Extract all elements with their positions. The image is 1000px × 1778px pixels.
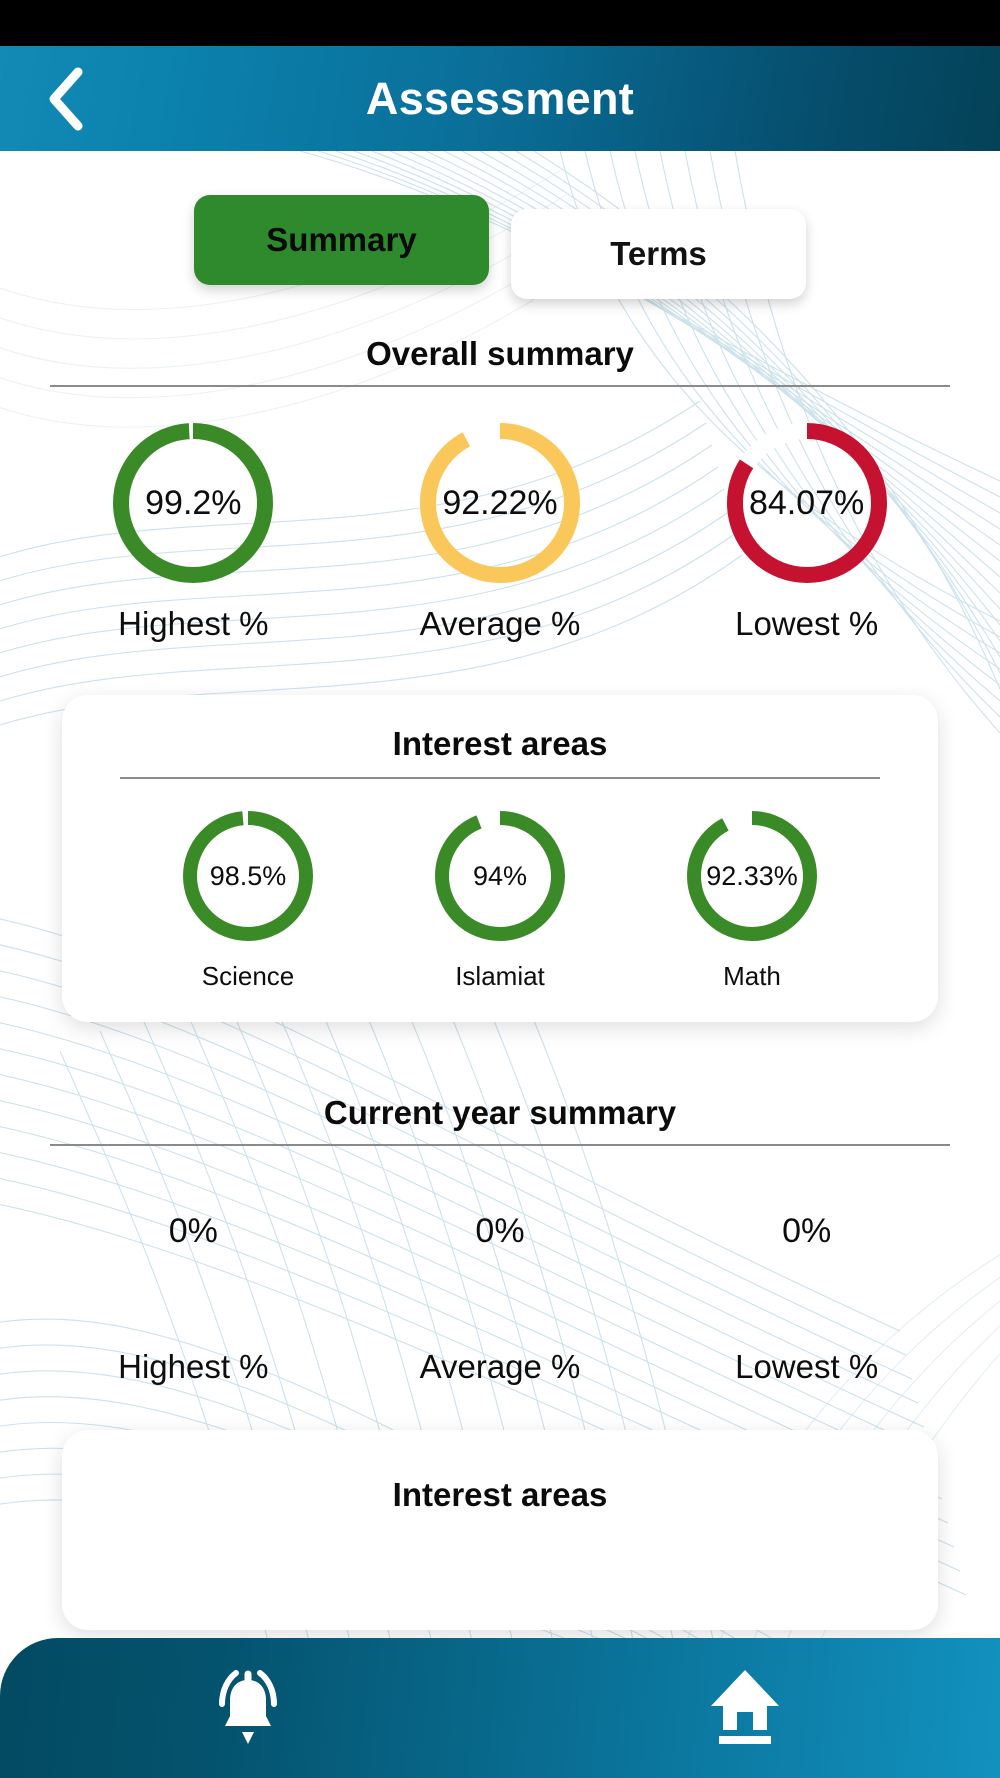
metric-label-lowest: Lowest % xyxy=(735,605,878,643)
interest-areas-card: Interest areas 98.5% Science xyxy=(62,695,938,1022)
interest-area-label-math: Math xyxy=(723,961,781,992)
bottom-navigation-bar xyxy=(0,1638,1000,1778)
current-year-summary-title: Current year summary xyxy=(0,1094,1000,1132)
current-year-value-highest: 0% xyxy=(169,1156,218,1306)
interest-area-label-islamiat: Islamiat xyxy=(455,961,545,992)
interest-area-label-science: Science xyxy=(202,961,295,992)
donut-value-islamiat: 94% xyxy=(431,807,569,945)
tab-bar: Summary Terms xyxy=(0,151,1000,299)
home-icon xyxy=(707,1666,783,1750)
donut-value-math: 92.33% xyxy=(683,807,821,945)
status-bar xyxy=(0,0,1000,46)
overall-summary-divider xyxy=(50,385,950,387)
interest-areas-donuts: 98.5% Science 94% Islamiat xyxy=(92,807,908,992)
scroll-content: Summary Terms Overall summary xyxy=(0,151,1000,1778)
current-year-value-average: 0% xyxy=(475,1156,524,1306)
donut-chart-math: 92.33% xyxy=(683,807,821,945)
nav-item-home[interactable] xyxy=(685,1653,805,1763)
donut-chart-highest: 99.2% xyxy=(107,417,279,589)
donut-value-average: 92.22% xyxy=(414,417,586,589)
current-year-interest-areas-title: Interest areas xyxy=(92,1476,908,1514)
back-button[interactable] xyxy=(36,66,98,132)
tab-summary-label: Summary xyxy=(266,221,416,259)
bell-icon xyxy=(209,1666,287,1750)
app-bar: Assessment xyxy=(0,46,1000,151)
chevron-left-icon xyxy=(44,66,90,132)
donut-value-highest: 99.2% xyxy=(107,417,279,589)
current-year-metric-lowest[interactable]: 0% Lowest % xyxy=(687,1156,927,1386)
metric-average[interactable]: 92.22% Average % xyxy=(414,417,586,643)
donut-chart-islamiat: 94% xyxy=(431,807,569,945)
donut-chart-average: 92.22% xyxy=(414,417,586,589)
overall-summary-section: Overall summary 99.2% Highest % xyxy=(0,335,1000,643)
interest-areas-title: Interest areas xyxy=(92,725,908,763)
tab-terms[interactable]: Terms xyxy=(511,209,806,299)
current-year-summary-section: Current year summary 0% Highest % 0% Ave… xyxy=(0,1094,1000,1386)
donut-value-lowest: 84.07% xyxy=(721,417,893,589)
metric-highest[interactable]: 99.2% Highest % xyxy=(107,417,279,643)
current-year-metric-average[interactable]: 0% Average % xyxy=(380,1156,620,1386)
metric-label-average: Average % xyxy=(420,605,581,643)
metric-lowest[interactable]: 84.07% Lowest % xyxy=(721,417,893,643)
donut-value-science: 98.5% xyxy=(179,807,317,945)
donut-chart-lowest: 84.07% xyxy=(721,417,893,589)
current-year-label-lowest: Lowest % xyxy=(735,1348,878,1386)
metric-label-highest: Highest % xyxy=(118,605,268,643)
interest-area-math[interactable]: 92.33% Math xyxy=(683,807,821,992)
interest-areas-divider xyxy=(120,777,880,779)
overall-summary-donuts: 99.2% Highest % 92.22% Av xyxy=(0,417,1000,643)
current-year-summary-values: 0% Highest % 0% Average % 0% Lowest % xyxy=(0,1156,1000,1386)
current-year-value-lowest: 0% xyxy=(782,1156,831,1306)
tab-terms-label: Terms xyxy=(610,235,707,273)
donut-chart-science: 98.5% xyxy=(179,807,317,945)
tab-summary[interactable]: Summary xyxy=(194,195,489,285)
overall-summary-title: Overall summary xyxy=(0,335,1000,373)
current-year-interest-areas-card: Interest areas xyxy=(62,1430,938,1630)
interest-area-science[interactable]: 98.5% Science xyxy=(179,807,317,992)
nav-item-notifications[interactable] xyxy=(188,1653,308,1763)
interest-area-islamiat[interactable]: 94% Islamiat xyxy=(431,807,569,992)
current-year-label-highest: Highest % xyxy=(118,1348,268,1386)
app-screen: Assessment xyxy=(0,0,1000,1778)
current-year-summary-divider xyxy=(50,1144,950,1146)
page-title: Assessment xyxy=(0,73,1000,125)
current-year-metric-highest[interactable]: 0% Highest % xyxy=(73,1156,313,1386)
current-year-label-average: Average % xyxy=(420,1348,581,1386)
